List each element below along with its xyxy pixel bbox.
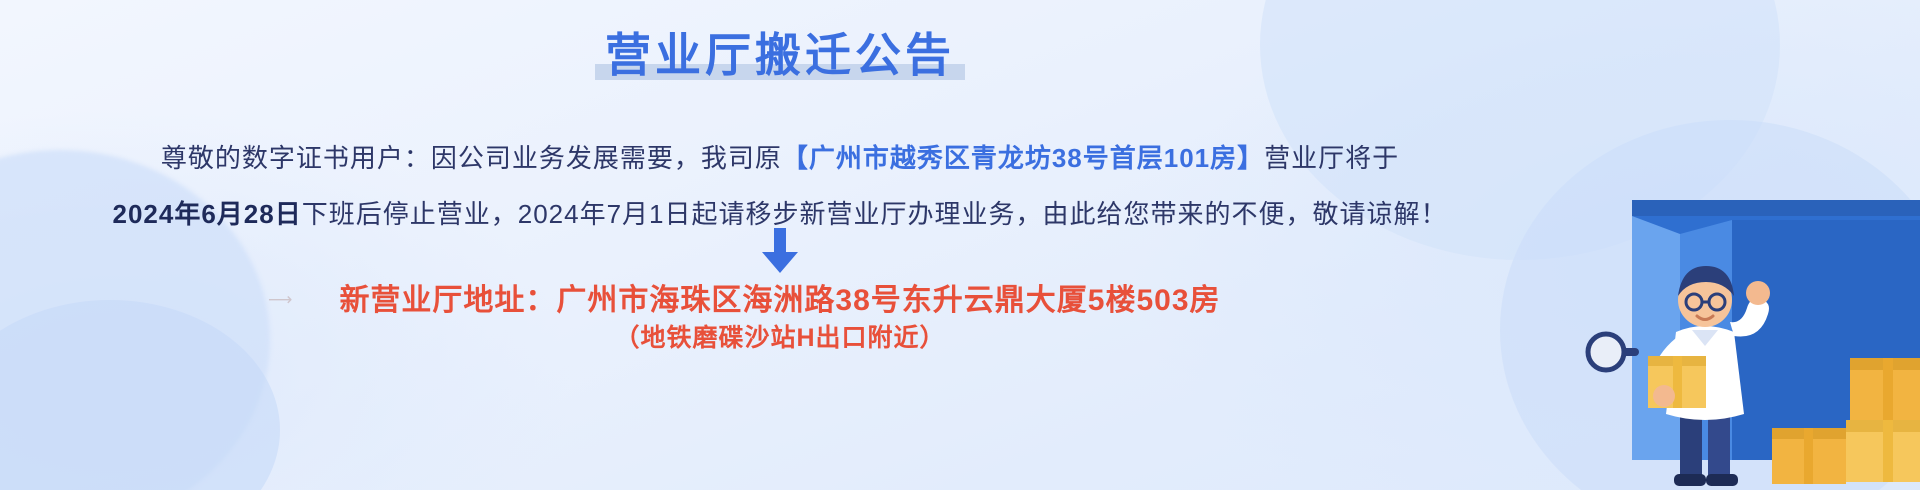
relocation-announcement-banner: 营业厅搬迁公告 尊敬的数字证书用户：因公司业务发展需要，我司原【广州市越秀区青龙…: [0, 0, 1920, 490]
body-line-1-segment-3: 营业厅将于: [1264, 143, 1399, 173]
body-line-2: 2024年6月28日下班后停止营业，2024年7月1日起请移步新营业厅办理业务，…: [0, 194, 1560, 231]
old-address-highlight: 【广州市越秀区青龙坊38号首层101房】: [782, 143, 1264, 173]
down-arrow-icon: [760, 228, 800, 274]
page-title-text: 营业厅搬迁公告: [605, 29, 955, 81]
page-title-wrapper: 营业厅搬迁公告: [0, 28, 1560, 82]
new-address-line: 新营业厅地址：广州市海珠区海洲路38号东升云鼎大厦5楼503房: [0, 275, 1560, 319]
down-arrow-wrapper: [0, 228, 1560, 276]
announcement-content: 营业厅搬迁公告 尊敬的数字证书用户：因公司业务发展需要，我司原【广州市越秀区青龙…: [0, 0, 1560, 490]
new-address-subnote: （地铁磨碟沙站H出口附近）: [0, 318, 1560, 354]
page-title: 营业厅搬迁公告: [599, 28, 961, 82]
body-line-1-segment-1: 尊敬的数字证书用户：因公司业务发展需要，我司原: [161, 143, 782, 173]
body-line-1: 尊敬的数字证书用户：因公司业务发展需要，我司原【广州市越秀区青龙坊38号首层10…: [0, 138, 1560, 175]
truck-side-mirror: [1588, 334, 1639, 370]
body-line-2-segment-2: 下班后停止营业，2024年7月1日起请移步新营业厅办理业务，由此给您带来的不便，…: [302, 199, 1448, 229]
closing-date-bold: 2024年6月28日: [113, 199, 302, 229]
